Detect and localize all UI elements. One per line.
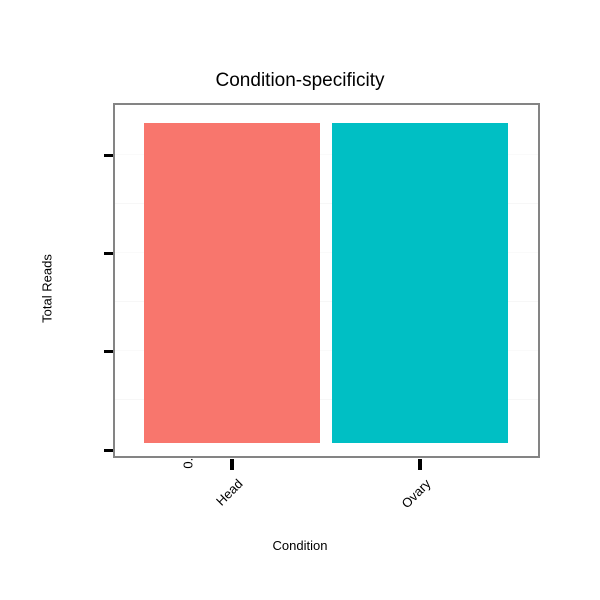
y-tick-mark-2	[104, 252, 113, 255]
bar-head[interactable]	[144, 123, 320, 443]
x-tick-mark-ovary	[418, 459, 422, 470]
y-tick-mark-0	[104, 449, 113, 452]
chart-canvas: Condition-specificity Total Reads 0.0 0.…	[0, 0, 600, 600]
plot-area	[115, 105, 538, 456]
plot-panel	[113, 103, 540, 458]
y-tick-mark-1	[104, 350, 113, 353]
x-tick-label-ovary: Ovary	[374, 476, 434, 536]
x-tick-mark-head	[230, 459, 234, 470]
bar-ovary[interactable]	[332, 123, 508, 443]
chart-title: Condition-specificity	[0, 70, 600, 92]
y-tick-mark-3	[104, 154, 113, 157]
y-axis-title: Total Reads	[40, 229, 55, 349]
x-axis-title: Condition	[0, 538, 600, 553]
